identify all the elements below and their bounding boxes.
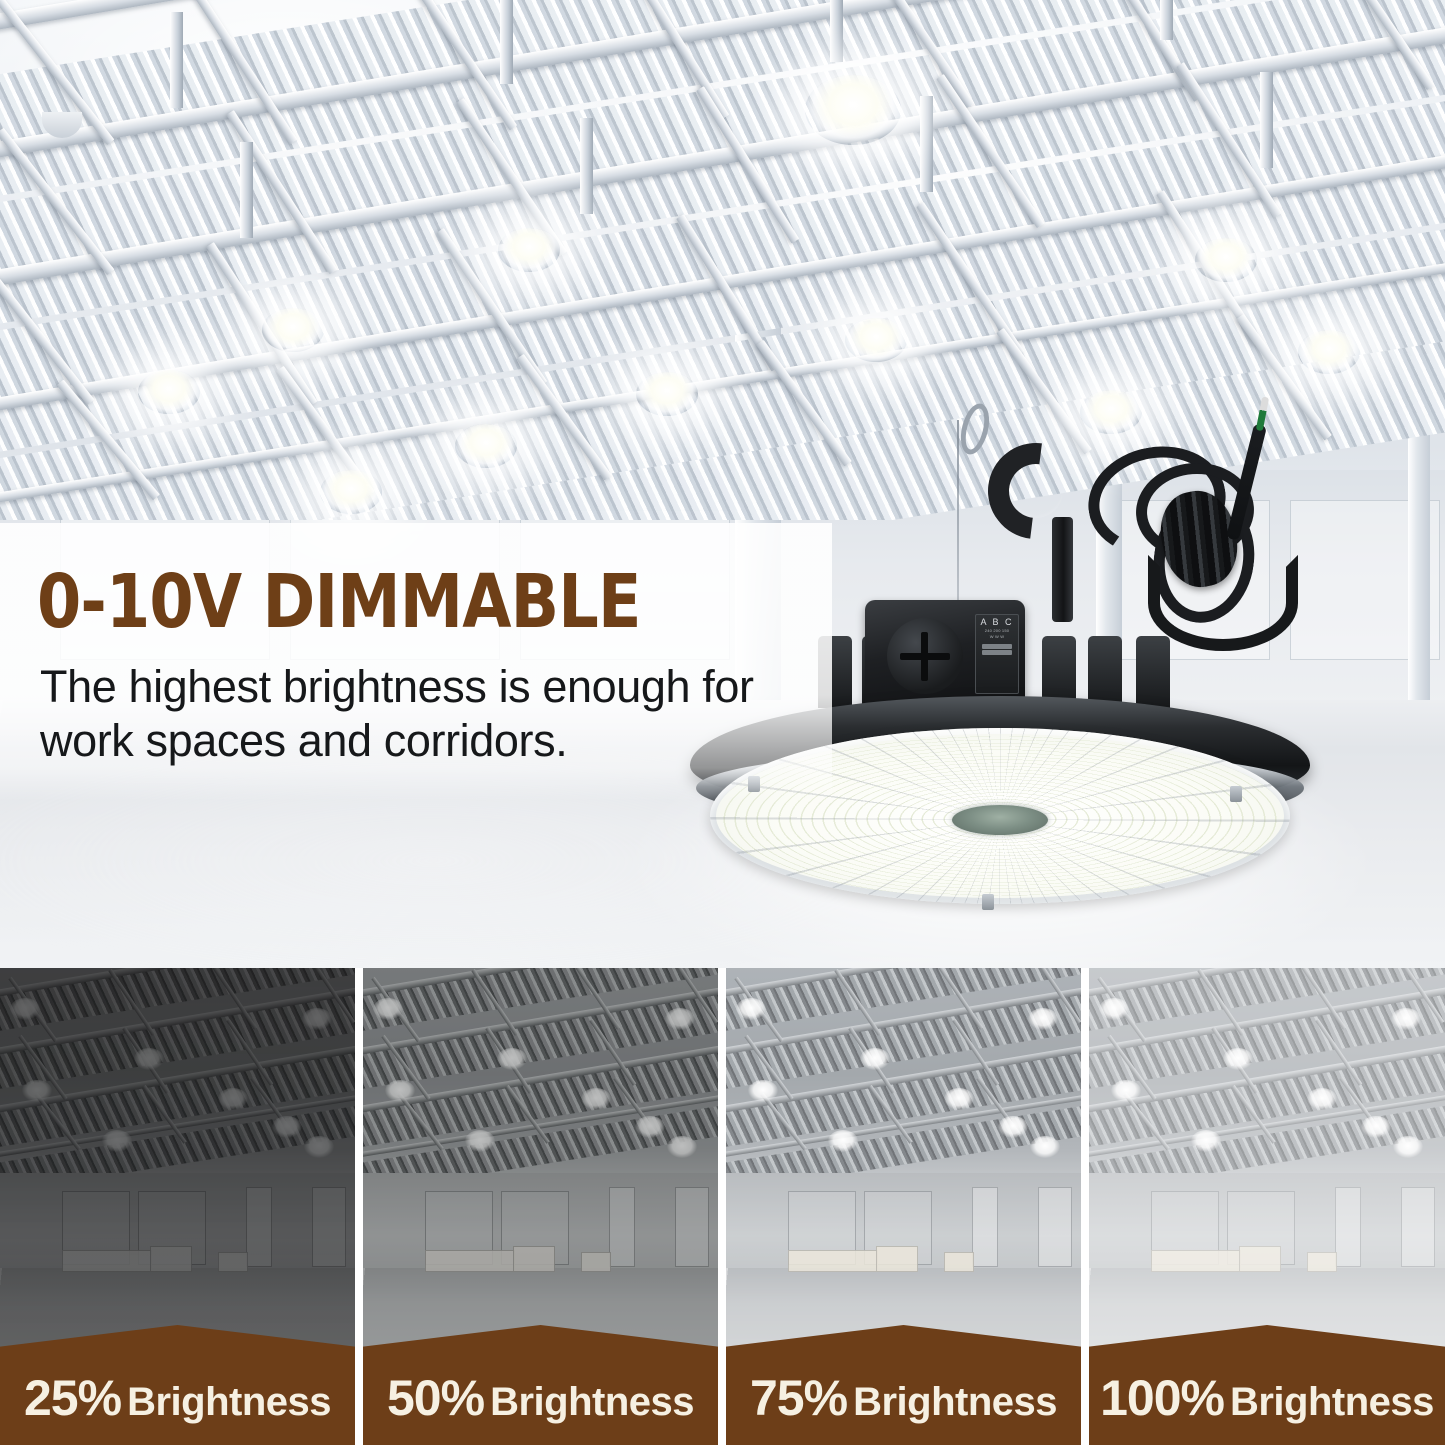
brightness-label: 50%Brightness — [363, 1369, 718, 1427]
cross-plate-icon — [887, 618, 963, 694]
wattage-selector-label: A B C 240 200 150 W W W — [975, 614, 1019, 694]
warehouse-thumbnail — [0, 968, 355, 1378]
ceiling-lamp-glow — [455, 424, 517, 468]
brightness-percent: 50% — [387, 1370, 484, 1426]
heatsink-fin — [1136, 636, 1170, 708]
lens-clip — [982, 894, 994, 910]
dip-switch — [982, 644, 1012, 649]
ceiling-lamp-glow — [636, 372, 698, 416]
cell-separator — [718, 968, 726, 1378]
carabiner-icon — [956, 401, 994, 458]
ceiling-lamp-glow — [845, 318, 907, 362]
brightness-percent: 100% — [1100, 1370, 1224, 1426]
spec-unit: W W W — [990, 634, 1005, 639]
ceiling-lamp-glow — [498, 228, 560, 272]
thumb-ceiling — [726, 968, 1081, 1183]
junction-box: A B C 240 200 150 W W W — [865, 600, 1025, 710]
brightness-label: 25%Brightness — [0, 1369, 355, 1427]
brightness-cell: 75%Brightness — [726, 968, 1081, 1445]
heatsink-fin — [1088, 636, 1122, 708]
ceiling-lamp-glow — [1298, 330, 1360, 374]
dip-switch — [982, 650, 1012, 655]
warehouse-thumbnail — [1089, 968, 1445, 1378]
brightness-cell: 25%Brightness — [0, 968, 355, 1445]
brightness-word: Brightness — [1230, 1380, 1434, 1424]
brightness-word: Brightness — [127, 1380, 331, 1424]
spec-channels: A B C — [980, 617, 1013, 627]
hero-subtitle: The highest brightness is enough for wor… — [40, 660, 810, 768]
page-title: 0-10V DIMMABLE — [37, 563, 641, 641]
mounting-hook — [969, 424, 1104, 559]
ceiling-lamp-glow — [1195, 238, 1257, 282]
hero-photo: A B C 240 200 150 W W W 0-10V DIM — [0, 0, 1445, 968]
warehouse-thumbnail — [726, 968, 1081, 1378]
cell-separator — [355, 968, 363, 1378]
brightness-percent: 75% — [750, 1370, 847, 1426]
ceiling-lamp-glow — [138, 370, 200, 414]
brightness-cell: 100%Brightness — [1089, 968, 1445, 1445]
spec-wattage: 240 200 150 — [985, 628, 1009, 633]
brightness-label: 75%Brightness — [726, 1369, 1081, 1427]
brightness-label-bar: 25%Brightness — [0, 1325, 355, 1445]
thumb-ceiling — [1089, 968, 1445, 1183]
ceiling-lamp-glow — [805, 75, 901, 145]
brightness-word: Brightness — [853, 1380, 1057, 1424]
cell-separator — [1081, 968, 1089, 1378]
lens-clip — [1230, 786, 1242, 802]
lens-center-hub — [952, 805, 1048, 835]
warehouse-thumbnail — [363, 968, 718, 1378]
product-marketing-image: A B C 240 200 150 W W W 0-10V DIM — [0, 0, 1445, 1445]
brightness-label-bar: 100%Brightness — [1089, 1325, 1445, 1445]
brightness-label-bar: 75%Brightness — [726, 1325, 1081, 1445]
brightness-cell: 50%Brightness — [363, 968, 718, 1445]
brightness-label-bar: 50%Brightness — [363, 1325, 718, 1445]
ceiling-lamp-glow — [320, 470, 382, 514]
ceiling-lamp-glow — [262, 308, 324, 352]
brightness-percent: 25% — [24, 1370, 121, 1426]
brightness-comparison-strip: 25%Brightness — [0, 968, 1445, 1445]
brightness-label: 100%Brightness — [1089, 1369, 1445, 1427]
brightness-word: Brightness — [490, 1380, 694, 1424]
